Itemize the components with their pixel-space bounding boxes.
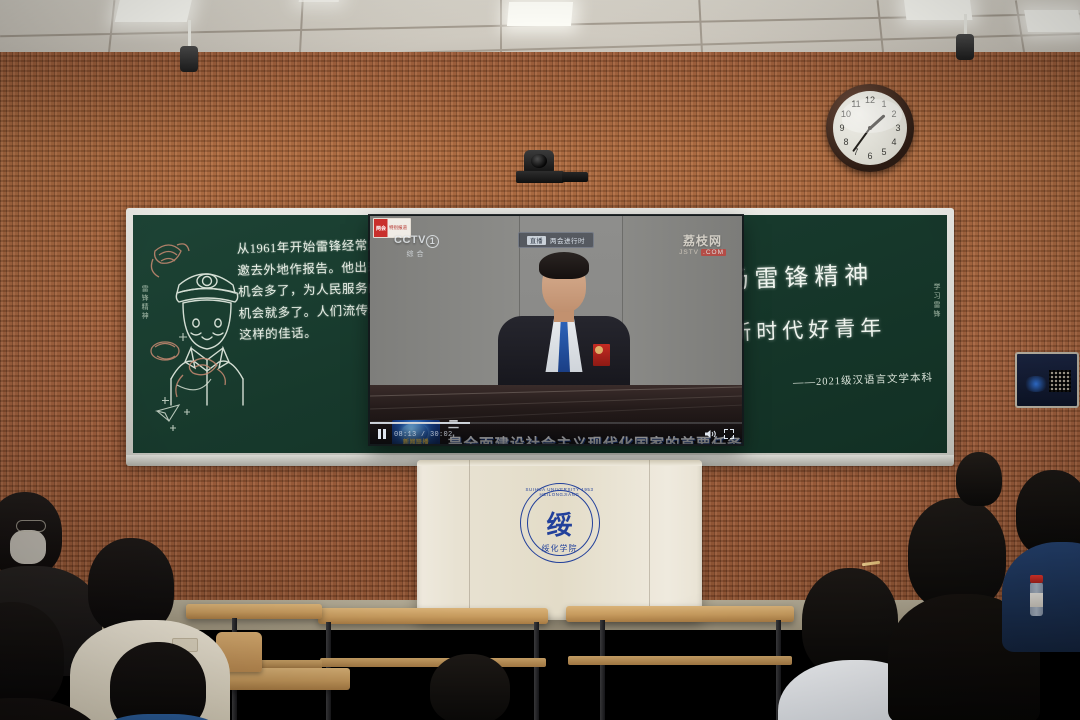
clock-face: 12 1 2 3 4 5 6 7 8 9 10 11 (833, 91, 907, 165)
lectern-seam (649, 460, 650, 620)
classroom-photo: 12 1 2 3 4 5 6 7 8 9 10 11 (0, 0, 1080, 720)
camera-lens-icon (531, 154, 547, 168)
ceiling-speaker (956, 34, 974, 60)
bottle-label (1030, 593, 1043, 607)
clock-numeral: 4 (891, 137, 896, 147)
topbar-chip: 直播 (527, 236, 546, 245)
clock-numeral: 8 (843, 137, 848, 147)
video-time-display: 08:13 / 30:02 (394, 431, 453, 439)
blackboard-left-text: 从1961年开始雷锋经常应邀去外地作报告。他出差机会多了，为人民服务的机会就多了… (237, 235, 385, 347)
student-head (956, 452, 1002, 506)
student-desk (318, 608, 548, 624)
jstv-watermark: 荔枝网 JSTV.COM (679, 232, 726, 256)
cctv-channel-logo: CCTV1 综合 (394, 234, 439, 259)
ceiling-lamp (507, 2, 573, 26)
student-desk (186, 604, 322, 619)
student-head (430, 654, 510, 720)
video-control-bar[interactable]: 08:13 / 30:02 (370, 422, 742, 444)
emblem-chinese-name: 绥化学院 (520, 543, 600, 554)
emblem-english-text: SUIHUA UNIVERSITY 1953 HEILONGJIANG (520, 487, 600, 497)
fullscreen-icon[interactable] (724, 429, 734, 439)
clock-numeral: 6 (867, 151, 872, 161)
water-bottle (1030, 582, 1043, 616)
ceiling-lamp (115, 0, 193, 22)
student-glasses-icon (16, 520, 46, 532)
topbar-label: 两会进行时 (550, 235, 585, 245)
emblem-glyph: 绥 (546, 513, 572, 539)
cctv-wordmark: CCTV1 (394, 234, 439, 248)
corner-badge-sub: 特别报道 (389, 225, 407, 231)
university-emblem: SUIHUA UNIVERSITY 1953 HEILONGJIANG 绥 绥化… (520, 483, 600, 563)
clock-numeral: 5 (881, 147, 886, 157)
jstv-en-text: JSTV (679, 249, 699, 256)
blackboard-vertical-right: 学习雷锋 (931, 283, 941, 319)
desk-leg (600, 620, 605, 720)
ceiling-speaker (180, 46, 198, 72)
ceiling-cable (188, 20, 191, 48)
lectern-seam (469, 460, 470, 620)
cctv-channel-name: 综合 (394, 249, 439, 259)
wall-clock: 12 1 2 3 4 5 6 7 8 9 10 11 (826, 84, 914, 172)
ceiling-cable (964, 14, 967, 36)
clock-glass-glare (842, 99, 902, 133)
camera-base (516, 171, 564, 183)
volume-icon[interactable] (705, 429, 716, 439)
speaker-hair (539, 252, 589, 279)
desk-shelf (568, 656, 792, 665)
ceiling-lamp (299, 0, 342, 2)
bottle-cap (1030, 575, 1043, 583)
desk-shelf (320, 658, 546, 667)
display-graphic (1023, 376, 1049, 392)
student-mask (10, 530, 46, 564)
lectern-top (417, 460, 702, 466)
jstv-watermark-cn: 荔枝网 (679, 232, 726, 249)
student-head (110, 642, 206, 720)
video-frame: 两会 特别报道 CCTV1 综合 直播 两会进行时 荔枝网 JSTV.COM (370, 216, 742, 444)
blackboard-vertical-left: 雷锋精神 (139, 285, 149, 321)
ceiling-lamp (1024, 10, 1080, 32)
pause-icon[interactable] (378, 429, 386, 439)
wall-info-display[interactable] (1015, 352, 1079, 408)
badge-emblem-icon (595, 346, 603, 354)
desk-leg (534, 622, 539, 720)
desk-edge-line (370, 386, 742, 396)
qr-code-icon (1049, 370, 1071, 392)
cctv-channel-number: 1 (426, 235, 439, 248)
cctv-text: CCTV (394, 234, 426, 246)
lectern: SUIHUA UNIVERSITY 1953 HEILONGJIANG 绥 绥化… (417, 460, 702, 620)
jstv-domain: .COM (701, 249, 726, 256)
camera-mount-arm (562, 172, 588, 182)
ceiling-lamp (904, 0, 973, 20)
corner-badge-title: 两会 (376, 225, 386, 232)
broadcast-topbar: 直播 两会进行时 (518, 232, 594, 248)
wall-mounted-tv[interactable]: 两会 特别报道 CCTV1 综合 直播 两会进行时 荔枝网 JSTV.COM (370, 216, 742, 444)
jstv-watermark-en: JSTV.COM (679, 249, 726, 256)
